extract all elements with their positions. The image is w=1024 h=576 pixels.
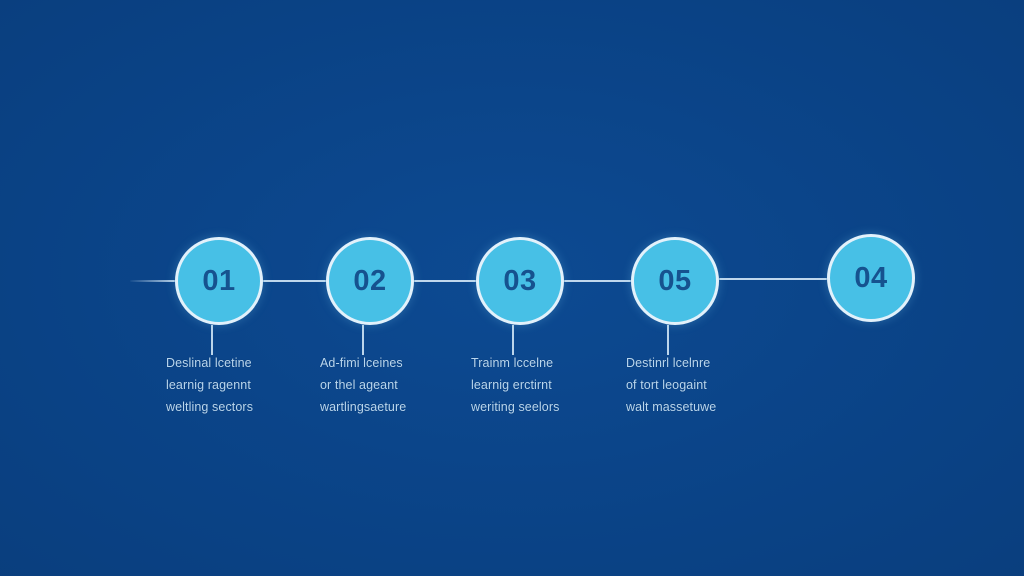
- timeline-node-4-number: 05: [658, 267, 691, 296]
- timeline-stem-1: [211, 325, 213, 355]
- timeline-caption-4: Destinrl lcelnre of tort leogaint walt m…: [626, 352, 758, 418]
- timeline-stem-4: [667, 325, 669, 355]
- timeline-caption-3-line-2: learnig erctirnt: [471, 374, 603, 396]
- timeline-caption-3: Trainm lccelne learnig erctirnt weriting…: [471, 352, 603, 418]
- timeline-node-3[interactable]: 03: [476, 237, 564, 325]
- timeline-connector-4-5: [719, 278, 827, 280]
- timeline-caption-2-line-3: wartlingsaeture: [320, 396, 452, 418]
- timeline-caption-2-line-1: Ad-fimi lceines: [320, 352, 452, 374]
- timeline-caption-2-line-2: or thel ageant: [320, 374, 452, 396]
- timeline-caption-1-line-2: learnig ragennt: [166, 374, 298, 396]
- timeline-connector-1-2: [263, 280, 326, 282]
- timeline-caption-3-line-1: Trainm lccelne: [471, 352, 603, 374]
- timeline-node-1-number: 01: [202, 267, 235, 296]
- timeline-node-3-number: 03: [503, 267, 536, 296]
- timeline-caption-4-line-3: walt massetuwe: [626, 396, 758, 418]
- timeline-caption-4-line-1: Destinrl lcelnre: [626, 352, 758, 374]
- timeline-connector-3-4: [564, 280, 631, 282]
- timeline-node-5[interactable]: 04: [827, 234, 915, 322]
- timeline-caption-1-line-3: weltling sectors: [166, 396, 298, 418]
- timeline-node-4[interactable]: 05: [631, 237, 719, 325]
- timeline-node-1[interactable]: 01: [175, 237, 263, 325]
- timeline-caption-1-line-1: Deslinal lcetine: [166, 352, 298, 374]
- timeline-caption-2: Ad-fimi lceines or thel ageant wartlings…: [320, 352, 452, 418]
- timeline-left-tail: [130, 280, 175, 282]
- timeline-stem-3: [512, 325, 514, 355]
- timeline-infographic: 01 02 03 05 04 Deslinal lcetine learnig …: [0, 0, 1024, 576]
- timeline-caption-3-line-3: weriting seelors: [471, 396, 603, 418]
- timeline-connector-2-3: [414, 280, 476, 282]
- timeline-node-5-number: 04: [854, 264, 887, 293]
- timeline-node-2[interactable]: 02: [326, 237, 414, 325]
- timeline-node-2-number: 02: [353, 267, 386, 296]
- timeline-caption-1: Deslinal lcetine learnig ragennt weltlin…: [166, 352, 298, 418]
- timeline-caption-4-line-2: of tort leogaint: [626, 374, 758, 396]
- timeline-stem-2: [362, 325, 364, 355]
